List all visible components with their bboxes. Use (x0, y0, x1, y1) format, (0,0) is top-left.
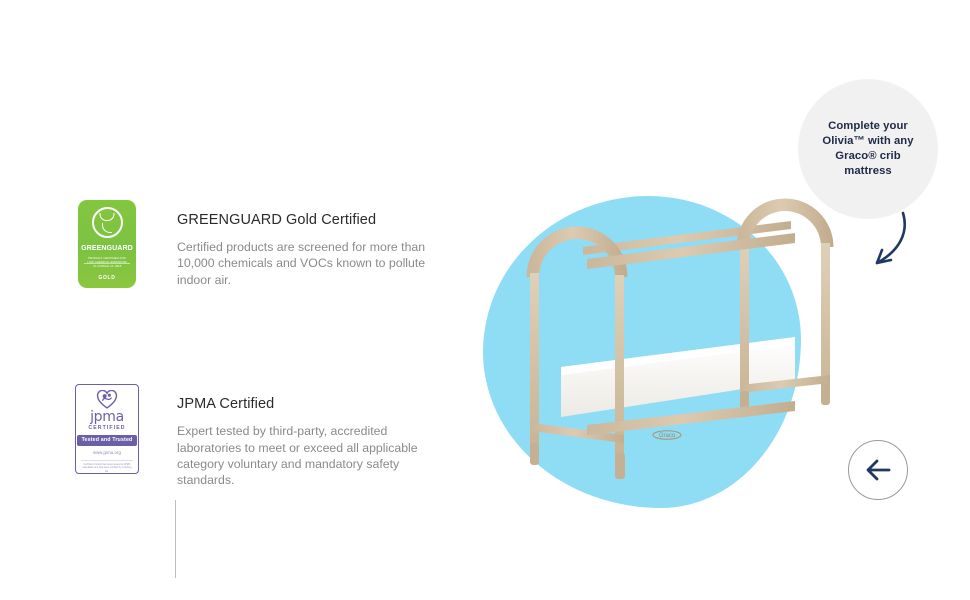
greenguard-tier-label: GOLD (98, 275, 115, 281)
certification-item-greenguard: GREENGUARD PRODUCT CERTIFIED FOR LOW CHE… (70, 200, 450, 288)
jpma-brand-label: jpma (90, 410, 124, 424)
jpma-heart-baby-icon (96, 390, 118, 409)
jpma-description: Expert tested by third-party, accredited… (177, 423, 433, 489)
ul-mark-icon (92, 207, 123, 238)
jpma-url-label: www.jpma.org (93, 450, 121, 455)
greenguard-brand-label: GREENGUARD (81, 243, 133, 252)
certification-item-jpma: jpma CERTIFIED Tested and Trusted www.jp… (70, 384, 450, 489)
arrow-left-icon (865, 459, 891, 481)
product-image-section: Graco Complete your Olivia™ with any Gra… (455, 0, 970, 600)
greenguard-gold-band: GOLD (78, 266, 136, 284)
mattress-callout-text: Complete your Olivia™ with any Graco® cr… (812, 119, 924, 180)
jpma-tested-trusted-banner: Tested and Trusted (77, 435, 138, 445)
jpma-badge-column: jpma CERTIFIED Tested and Trusted www.jp… (70, 384, 144, 474)
greenguard-text-block: GREENGUARD Gold Certified Certified prod… (177, 200, 433, 288)
jpma-fine-print: Certified product has been tested to JPM… (81, 460, 133, 474)
greenguard-description: Certified products are screened for more… (177, 239, 433, 288)
greenguard-title: GREENGUARD Gold Certified (177, 212, 433, 228)
jpma-certified-seal-icon: jpma CERTIFIED Tested and Trusted www.jp… (75, 384, 139, 474)
badge-connector-line (175, 500, 176, 578)
back-button[interactable] (848, 440, 908, 500)
jpma-title: JPMA Certified (177, 396, 433, 412)
curved-down-left-arrow-icon (853, 205, 917, 277)
jpma-text-block: JPMA Certified Expert tested by third-pa… (177, 384, 433, 489)
certifications-section: GREENGUARD PRODUCT CERTIFIED FOR LOW CHE… (70, 200, 450, 489)
mattress-callout-bubble: Complete your Olivia™ with any Graco® cr… (798, 79, 938, 219)
page-canvas: GREENGUARD PRODUCT CERTIFIED FOR LOW CHE… (0, 0, 970, 600)
crib-brand-mark: Graco (659, 433, 676, 439)
greenguard-gold-seal-icon: GREENGUARD PRODUCT CERTIFIED FOR LOW CHE… (78, 200, 136, 288)
crib-product-image: Graco (495, 185, 835, 490)
jpma-certified-label: CERTIFIED (88, 425, 125, 431)
greenguard-badge-column: GREENGUARD PRODUCT CERTIFIED FOR LOW CHE… (70, 200, 144, 288)
